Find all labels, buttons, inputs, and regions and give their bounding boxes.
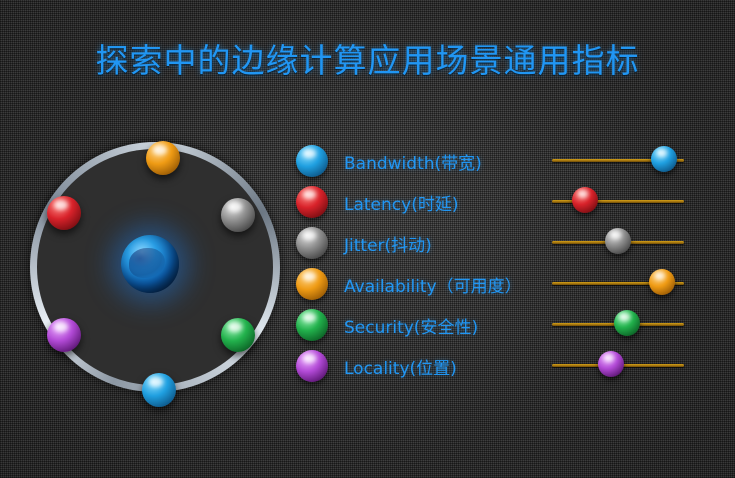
slide-canvas: 探索中的边缘计算应用场景通用指标 Bandwidth(带宽)Latency(时延… [0,0,735,478]
slider-knob-security[interactable] [614,310,640,336]
slider-row-security[interactable] [552,306,692,347]
legend-label-availability: Availability（可用度） [344,272,522,297]
jitter-bullet-icon [296,227,328,259]
legend-row-locality: Locality(位置) [296,347,536,388]
security-orb [221,318,255,352]
legend-label-locality: Locality(位置) [344,354,457,379]
latency-bullet-icon [296,186,328,218]
legend-row-security: Security(安全性) [296,306,536,347]
availability-orb [146,141,180,175]
slider-row-availability[interactable] [552,265,692,306]
jitter-orb [221,198,255,232]
orbit-diagram [18,128,278,408]
slider-row-latency[interactable] [552,183,692,224]
slider-knob-bandwidth[interactable] [651,146,677,172]
legend-row-bandwidth: Bandwidth(带宽) [296,142,536,183]
locality-bullet-icon [296,350,328,382]
legend-row-availability: Availability（可用度） [296,265,536,306]
globe-icon [121,235,179,293]
page-title: 探索中的边缘计算应用场景通用指标 [0,34,735,82]
legend-row-jitter: Jitter(抖动) [296,224,536,265]
security-bullet-icon [296,309,328,341]
bandwidth-orb [142,373,176,407]
slider-row-locality[interactable] [552,347,692,388]
legend-label-latency: Latency(时延) [344,190,458,215]
legend-row-latency: Latency(时延) [296,183,536,224]
metrics-legend: Bandwidth(带宽)Latency(时延)Jitter(抖动)Availa… [296,142,536,388]
bandwidth-bullet-icon [296,145,328,177]
legend-label-jitter: Jitter(抖动) [344,231,432,256]
latency-orb [47,196,81,230]
slider-row-bandwidth[interactable] [552,142,692,183]
slider-knob-availability[interactable] [649,269,675,295]
availability-bullet-icon [296,268,328,300]
locality-orb [47,318,81,352]
metrics-sliders [552,142,692,388]
slider-knob-locality[interactable] [598,351,624,377]
slider-knob-jitter[interactable] [605,228,631,254]
legend-label-bandwidth: Bandwidth(带宽) [344,149,482,174]
slider-row-jitter[interactable] [552,224,692,265]
legend-label-security: Security(安全性) [344,313,478,338]
slider-knob-latency[interactable] [572,187,598,213]
